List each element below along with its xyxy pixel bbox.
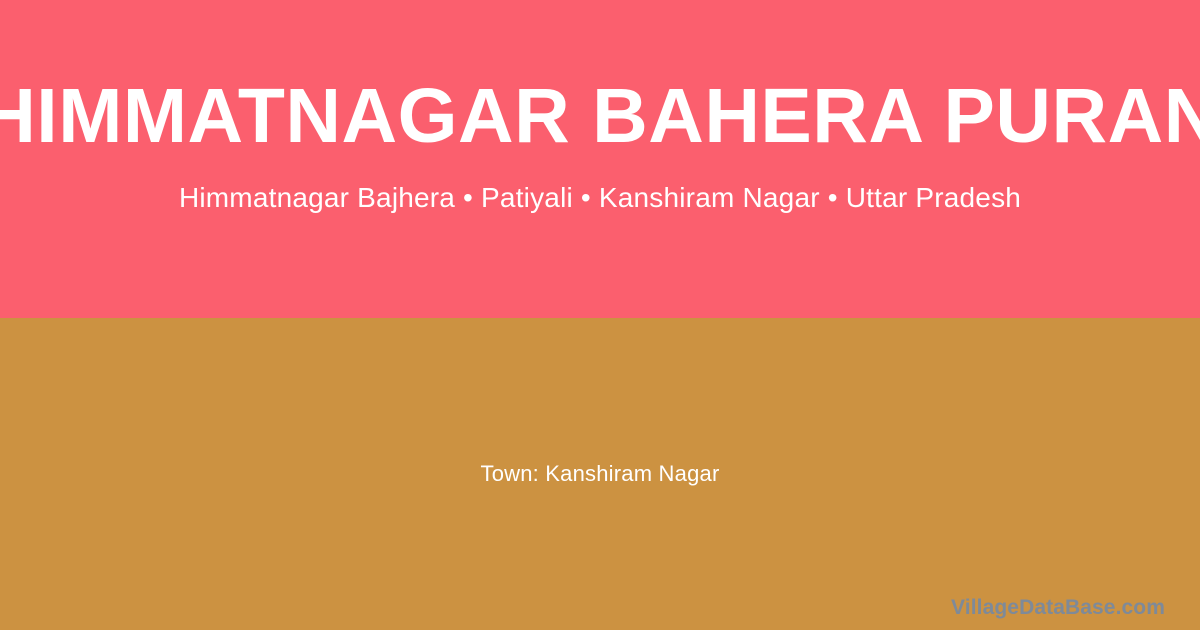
- body-band: Town: Kanshiram Nagar VillageDataBase.co…: [0, 318, 1200, 630]
- page-title: HIMMATNAGAR BAHERA PURAN: [0, 76, 1200, 156]
- header-band: HIMMATNAGAR BAHERA PURAN Himmatnagar Baj…: [0, 0, 1200, 318]
- town-label-value: Town: Kanshiram Nagar: [481, 459, 720, 490]
- subtitle-row: Himmatnagar Bajhera • Patiyali • Kanshir…: [0, 178, 1200, 219]
- village-info-card: HIMMATNAGAR BAHERA PURAN Himmatnagar Baj…: [0, 0, 1200, 630]
- location-breadcrumb: Himmatnagar Bajhera • Patiyali • Kanshir…: [179, 178, 1021, 219]
- site-watermark: VillageDataBase.com: [951, 595, 1165, 621]
- body-content: Town: Kanshiram Nagar: [0, 318, 1200, 630]
